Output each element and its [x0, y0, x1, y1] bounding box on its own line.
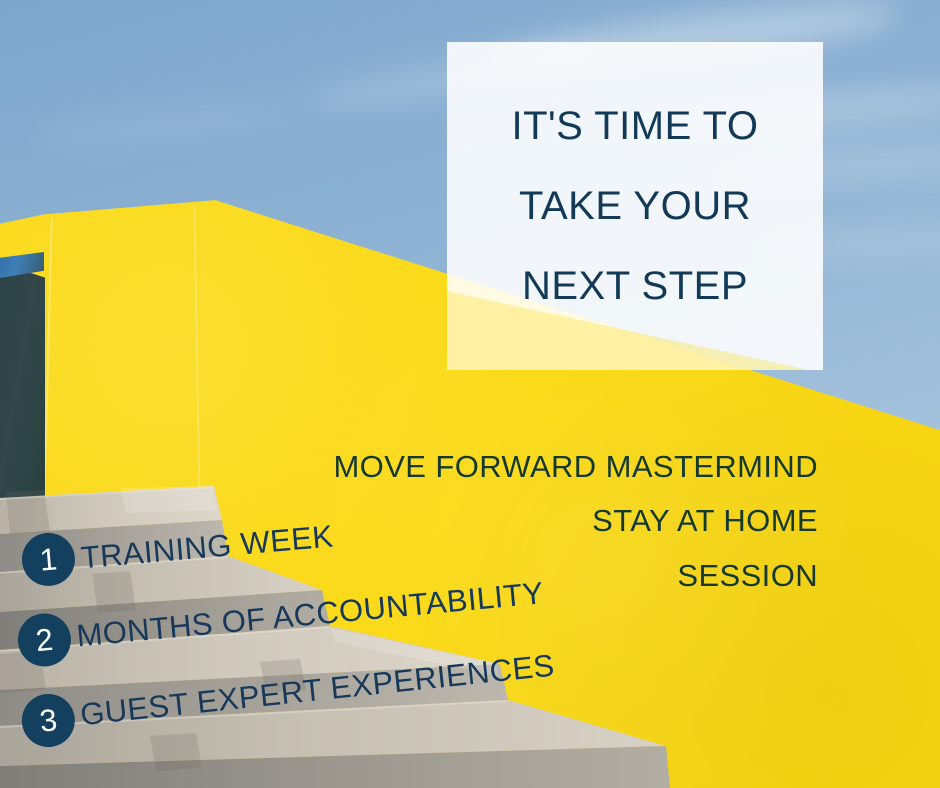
feature-badge-3: 3 — [19, 691, 78, 750]
headline-line-3: NEXT STEP — [522, 266, 748, 306]
promo-poster: IT'S TIME TO TAKE YOUR NEXT STEP MOVE FO… — [0, 0, 940, 788]
promo-line-1: MOVE FORWARD MASTERMIND — [118, 440, 818, 494]
headline-line-2: TAKE YOUR — [519, 186, 751, 226]
feature-badge-1: 1 — [20, 531, 77, 588]
headline-line-1: IT'S TIME TO — [511, 106, 758, 146]
feature-badge-2: 2 — [15, 611, 73, 669]
headline-panel: IT'S TIME TO TAKE YOUR NEXT STEP — [447, 42, 823, 370]
